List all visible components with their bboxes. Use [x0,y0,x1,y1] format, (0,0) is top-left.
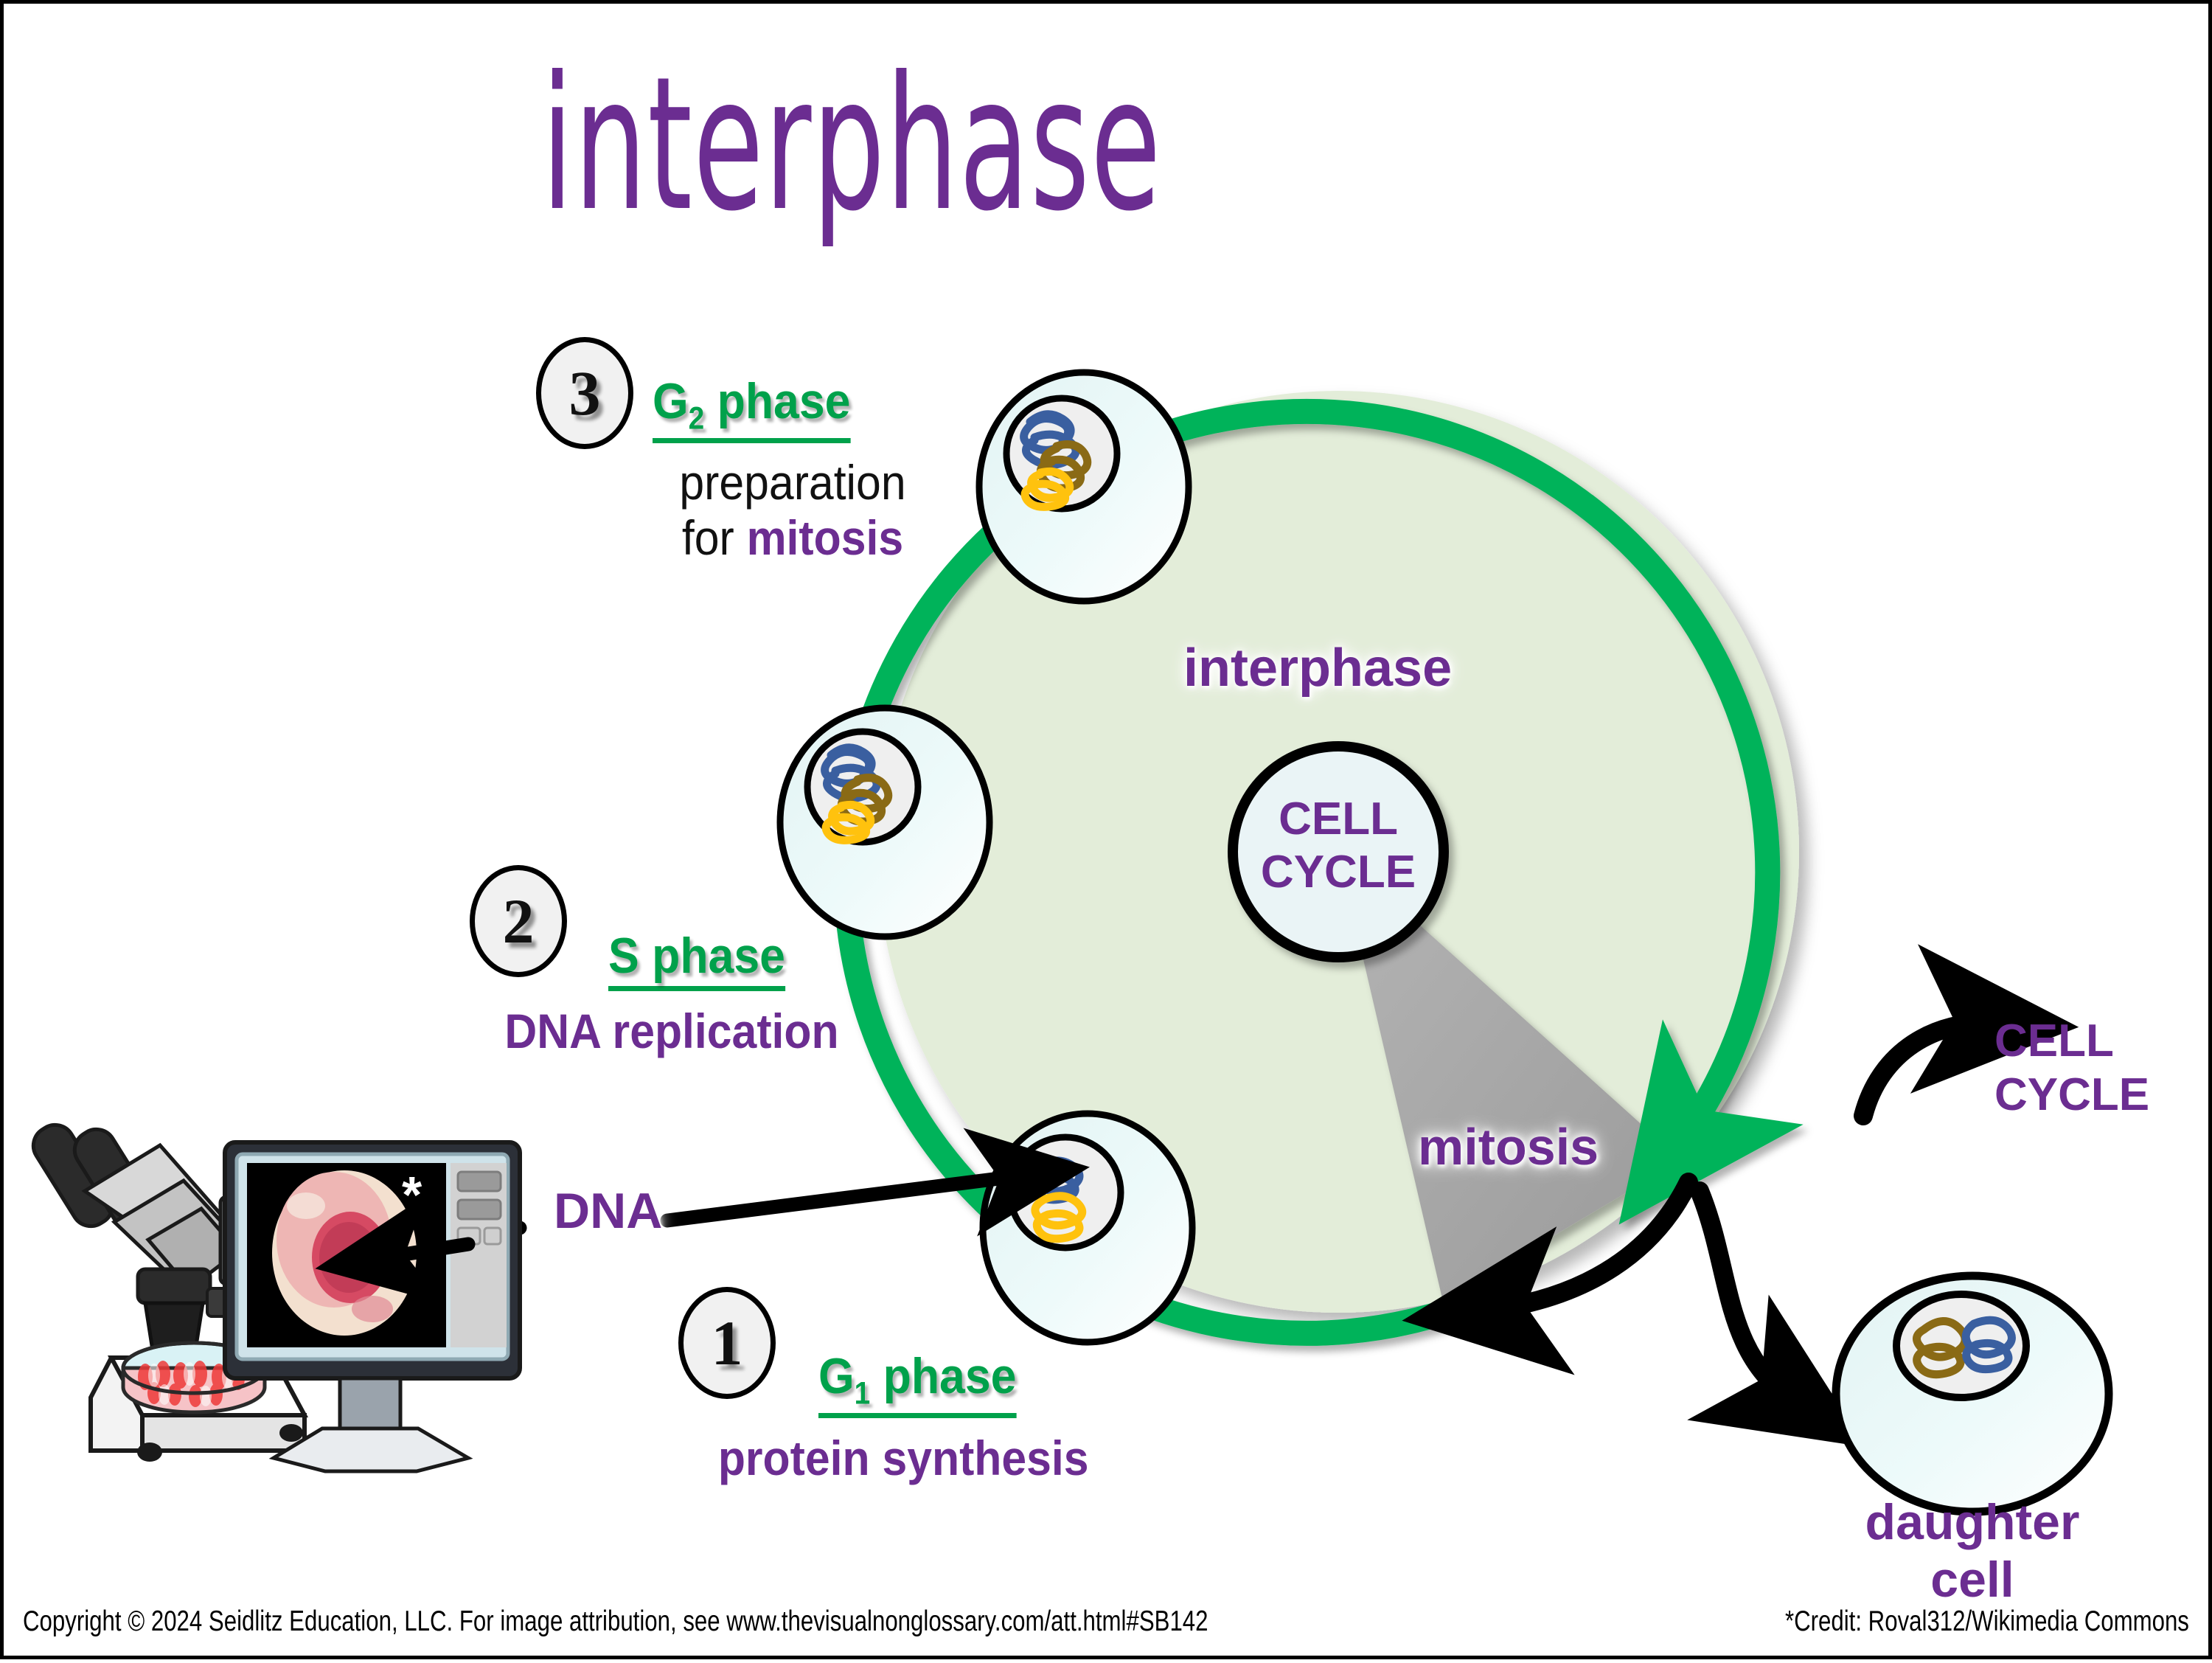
daughter-cell-label-line1: daughter [1788,1493,2157,1551]
cell-g1-phase [983,1114,1192,1342]
s-phase-heading: S phase [608,927,785,991]
step-bubble-2: 2 [470,865,567,977]
step-label-g2-phase: G2 phase preparation for mitosis [653,372,933,566]
g2-phase-desc-line1: preparation [664,455,922,510]
cell-cycle-return-line1: CELL [1994,1014,2212,1068]
cell-cycle-center-label: CELL CYCLE [1228,793,1449,899]
mitosis-region-label: mitosis [1418,1117,1599,1176]
dna-label: DNA [554,1182,662,1240]
cell-cycle-center-line2: CYCLE [1228,846,1449,899]
footer-credit: *Credit: Roval312/Wikimedia Commons [1684,1605,2189,1638]
cell-cycle-return-label: CELL CYCLE [1994,1014,2212,1122]
step-label-s-phase: S phase DNA replication [608,927,911,1059]
cell-cycle-return-line2: CYCLE [1994,1068,2212,1122]
step-bubble-3: 3 [536,337,633,449]
footer-copyright: Copyright © 2024 Seidlitz Education, LLC… [23,1605,1504,1638]
diagram-page: interphase [0,0,2212,1659]
cell-s-phase [780,708,990,937]
interphase-region-label: interphase [1183,638,1452,698]
daughter-cell [1836,1276,2109,1512]
g2-phase-desc-line2: for mitosis [664,510,922,566]
g1-phase-heading: G1 phase [818,1347,1016,1418]
daughter-cell-label: daughter cell [1788,1493,2157,1608]
daughter-cell-label-line2: cell [1788,1551,2157,1608]
step-label-g1-phase: G1 phase protein synthesis [818,1347,1150,1486]
mitosis-inline-label: mitosis [747,510,904,565]
cell-cycle-center-line1: CELL [1228,793,1449,846]
cell-g2-phase [979,372,1189,601]
g1-phase-desc: protein synthesis [693,1431,1113,1486]
monitor-asterisk: * [402,1169,422,1221]
step-bubble-1: 1 [678,1287,776,1399]
g2-phase-heading: G2 phase [653,372,850,443]
s-phase-desc: DNA replication [468,1004,875,1059]
